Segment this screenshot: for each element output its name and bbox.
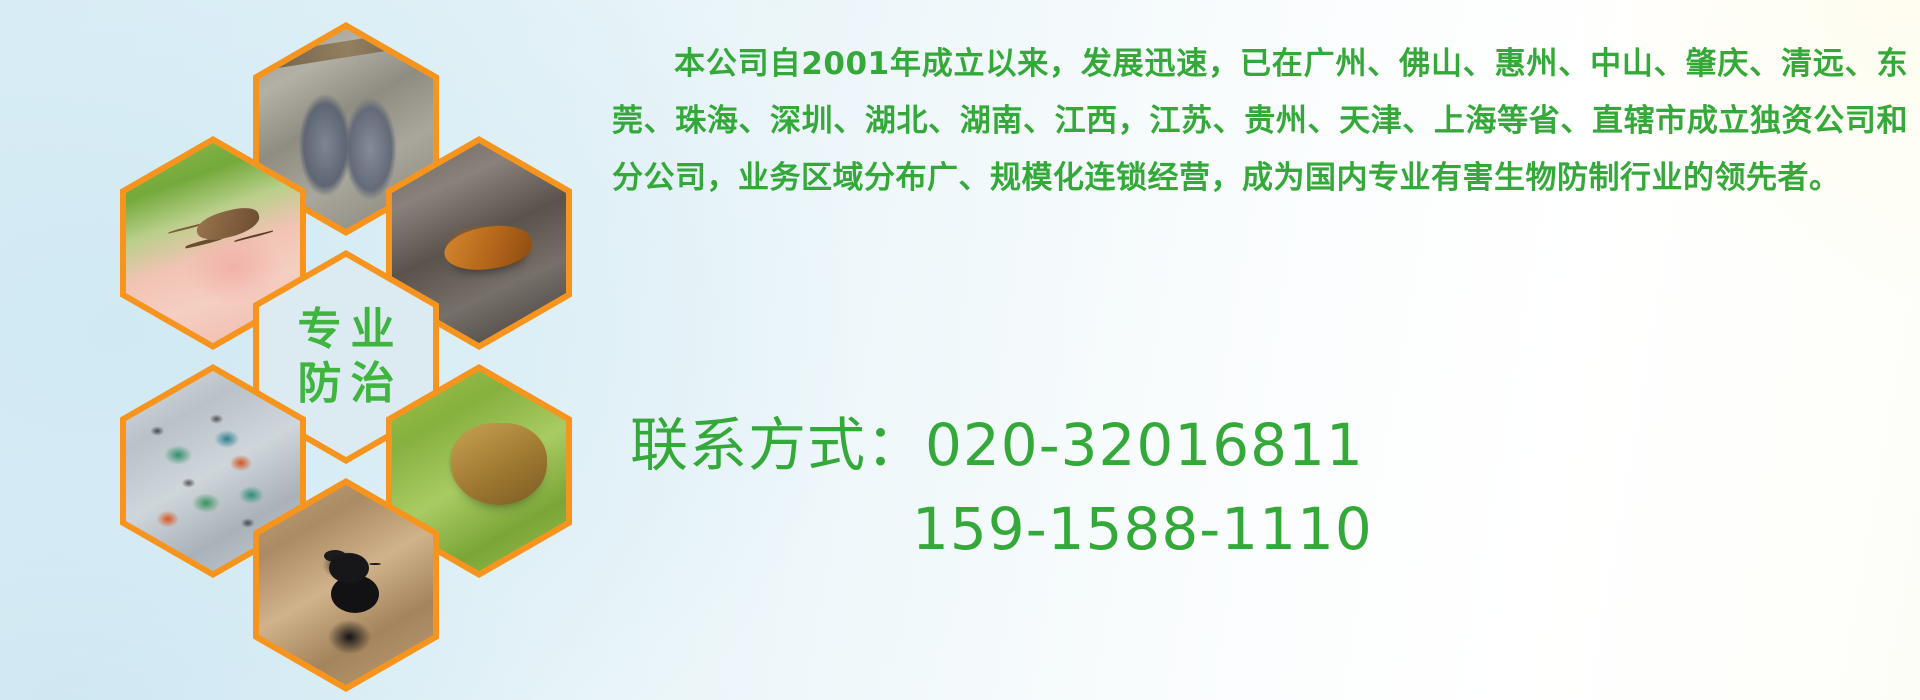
contact-line-mobile[interactable]: 159-1588-1110 xyxy=(622,487,1802,571)
honeycomb-photo-cluster: 专业 防治 xyxy=(96,14,596,574)
promotional-banner: 专业 防治 本公司自2001年成立以来，发展迅速，已在广州、佛山、惠州、中山、肇… xyxy=(0,0,1920,700)
contact-line-landline[interactable]: 联系方式：020-32016811 xyxy=(622,403,1802,487)
company-intro-paragraph: 本公司自2001年成立以来，发展迅速，已在广州、佛山、惠州、中山、肇庆、清远、东… xyxy=(612,36,1908,207)
ant-photo xyxy=(259,485,433,685)
hex-inner-clip xyxy=(259,485,433,685)
center-slogan-line-2: 防治 xyxy=(289,362,404,406)
center-slogan-line-1: 专业 xyxy=(289,308,404,352)
banner-content: 本公司自2001年成立以来，发展迅速，已在广州、佛山、惠州、中山、肇庆、清远、东… xyxy=(612,0,1920,700)
contact-block: 联系方式：020-32016811 159-1588-1110 xyxy=(622,403,1802,571)
